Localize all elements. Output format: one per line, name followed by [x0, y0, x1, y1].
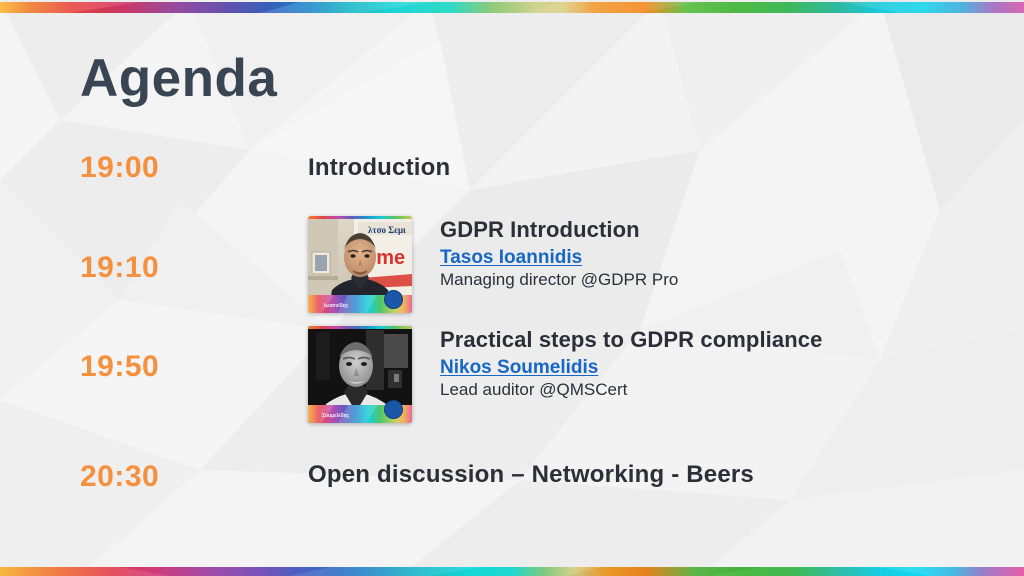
svg-text:Σουμελίδης: Σουμελίδης	[322, 413, 350, 419]
speaker-name-link[interactable]: Nikos Soumelidis	[440, 357, 598, 379]
speaker-photo-nikos-soumelidis[interactable]: Σουμελίδης	[308, 326, 412, 423]
speaker-role: Managing director @GDPR Pro	[440, 270, 678, 290]
photo-badge-icon	[384, 290, 403, 309]
agenda-time: 19:00	[80, 153, 159, 183]
agenda-item-title: Introduction	[308, 156, 450, 180]
rainbow-bar-bottom-gradient	[0, 567, 1024, 576]
speaker-name-link[interactable]: Tasos Ioannidis	[440, 247, 582, 269]
agenda-item-title: GDPR Introduction	[440, 218, 678, 243]
speaker-photo-tasos-ioannidis[interactable]: λτσο Σεμι ome	[308, 216, 412, 313]
rainbow-bar-bottom	[0, 565, 1024, 576]
svg-text:Ιωαννίδης: Ιωαννίδης	[324, 303, 349, 309]
speaker-role: Lead auditor @QMSCert	[440, 380, 822, 400]
agenda-time: 19:10	[80, 253, 159, 283]
agenda-time: 19:50	[80, 352, 159, 382]
page-title: Agenda	[80, 52, 277, 105]
agenda-slide: Agenda 19:00 Introduction 19:10	[0, 0, 1024, 576]
rainbow-bar-top	[0, 0, 1024, 11]
photo-badge-icon	[384, 400, 403, 419]
agenda-item-title: Open discussion – Networking - Beers	[308, 463, 754, 487]
rainbow-bar-top-gradient	[0, 2, 1024, 13]
agenda-time: 20:30	[80, 462, 159, 492]
agenda-item-title: Practical steps to GDPR compliance	[440, 328, 822, 353]
svg-text:λτσο Σεμι: λτσο Σεμι	[368, 225, 406, 235]
